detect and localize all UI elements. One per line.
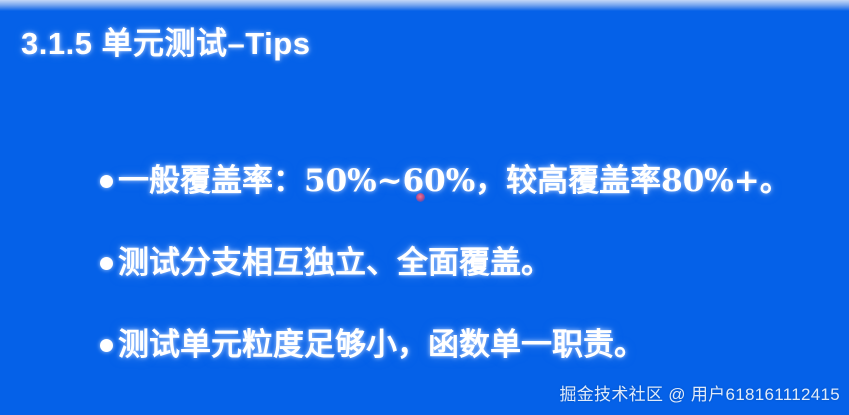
list-item: 测试分支相互独立、全面覆盖。 <box>100 240 800 286</box>
presentation-slide: 3.1.5 单元测试–Tips 一般覆盖率：50%~60%，较高覆盖率80%+。… <box>0 0 849 415</box>
list-item-label: 一般覆盖率：50%~60%，较高覆盖率80%+。 <box>118 166 791 197</box>
page-title: 3.1.5 单元测试–Tips <box>21 18 310 63</box>
list-item-label: 测试分支相互独立、全面覆盖。 <box>118 248 552 279</box>
filled-circle-bullet-icon <box>100 257 113 270</box>
list-item-label: 测试单元粒度足够小，函数单一职责。 <box>118 330 645 361</box>
laser-pointer-dot-icon <box>416 193 425 202</box>
watermark-label: 掘金技术社区 @ 用户618161112415 <box>559 380 840 405</box>
bullet-list: 一般覆盖率：50%~60%，较高覆盖率80%+。 测试分支相互独立、全面覆盖。 … <box>100 158 800 404</box>
filled-circle-bullet-icon <box>100 339 113 352</box>
list-item: 一般覆盖率：50%~60%，较高覆盖率80%+。 <box>100 158 800 204</box>
filled-circle-bullet-icon <box>100 175 113 188</box>
list-item: 测试单元粒度足够小，函数单一职责。 <box>100 322 800 368</box>
top-gradient-band <box>0 0 849 11</box>
